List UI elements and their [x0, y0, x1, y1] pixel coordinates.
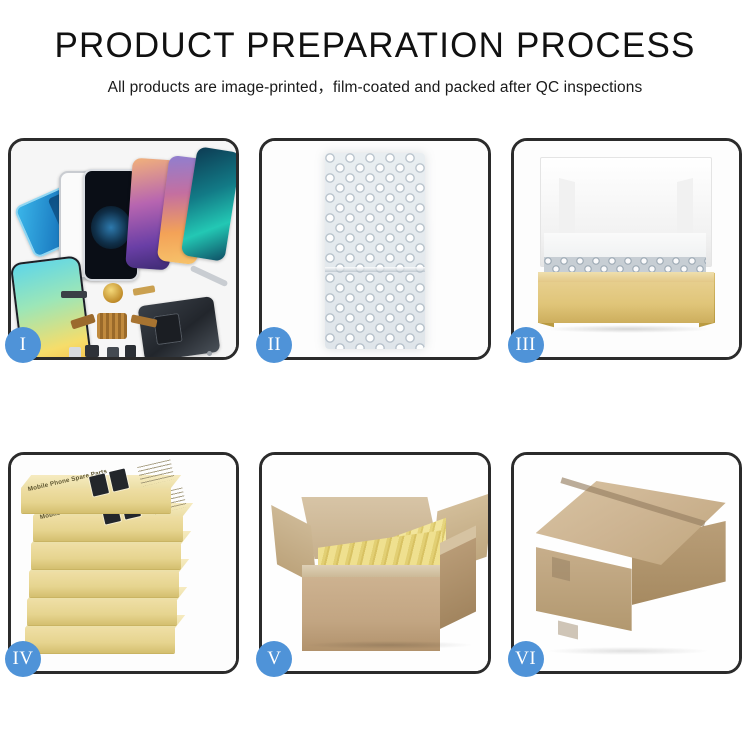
step-panel-3: III	[511, 138, 742, 360]
drop-shadow	[306, 641, 472, 649]
coil-part	[103, 283, 123, 303]
box-product-photo	[109, 468, 129, 491]
step-badge-3: III	[508, 327, 544, 363]
retail-box	[29, 571, 179, 597]
drop-shadow	[548, 647, 708, 655]
step-badge-4: IV	[5, 641, 41, 677]
step-badge-2: II	[256, 327, 292, 363]
screw-part	[207, 351, 212, 356]
step-panel-1: I	[8, 138, 239, 360]
small-component	[107, 347, 119, 357]
small-component	[85, 345, 99, 357]
carton-side-front	[302, 577, 440, 651]
step-image-1	[11, 141, 236, 357]
carton-flap-tab	[552, 557, 570, 581]
open-carton-scene	[262, 455, 487, 671]
open-mailer-scene	[514, 141, 739, 357]
bubble-wrapped-package	[325, 153, 425, 349]
flex-cable-part	[133, 285, 156, 296]
bubble-texture	[325, 153, 425, 349]
step-image-4: Mobile Phone Spare Parts Mobile Phone Sp…	[11, 455, 236, 671]
step-image-3	[514, 141, 739, 357]
step-badge-1: I	[5, 327, 41, 363]
battery-connector-part	[61, 291, 87, 298]
step-image-6	[514, 455, 739, 671]
carton-face-front	[536, 547, 632, 631]
carton-side-right	[440, 537, 476, 629]
steps-grid: I II	[8, 138, 742, 674]
bubble-wrap-scene	[262, 141, 487, 357]
header: PRODUCT PREPARATION PROCESS All products…	[0, 28, 750, 97]
step-badge-5: V	[256, 641, 292, 677]
step-image-2	[262, 141, 487, 357]
repair-tool	[190, 265, 229, 287]
retail-box	[25, 627, 175, 653]
sealed-carton-scene	[514, 455, 739, 671]
drop-shadow	[544, 325, 712, 333]
retail-box	[27, 599, 177, 625]
step-panel-4: Mobile Phone Spare Parts Mobile Phone Sp…	[8, 452, 239, 674]
page-title: PRODUCT PREPARATION PROCESS	[0, 28, 750, 65]
stacked-boxes-scene: Mobile Phone Spare Parts Mobile Phone Sp…	[11, 455, 236, 671]
step-panel-2: II	[259, 138, 490, 360]
step-badge-6: VI	[508, 641, 544, 677]
product-preparation-process-infographic: PRODUCT PREPARATION PROCESS All products…	[0, 0, 750, 750]
step-panel-6: VI	[511, 452, 742, 674]
mailer-box-body	[538, 281, 714, 323]
retail-box	[31, 543, 181, 569]
sim-tray-part	[69, 347, 81, 357]
circuit-board-part	[97, 313, 127, 339]
small-component	[125, 345, 136, 357]
step-image-5	[262, 455, 487, 671]
wrap-seam	[325, 267, 425, 272]
carton-flap-tab	[558, 621, 578, 640]
step-panel-5: V	[259, 452, 490, 674]
phone-parts-scene	[11, 141, 236, 357]
page-subtitle: All products are image-printed，film-coat…	[0, 75, 750, 97]
